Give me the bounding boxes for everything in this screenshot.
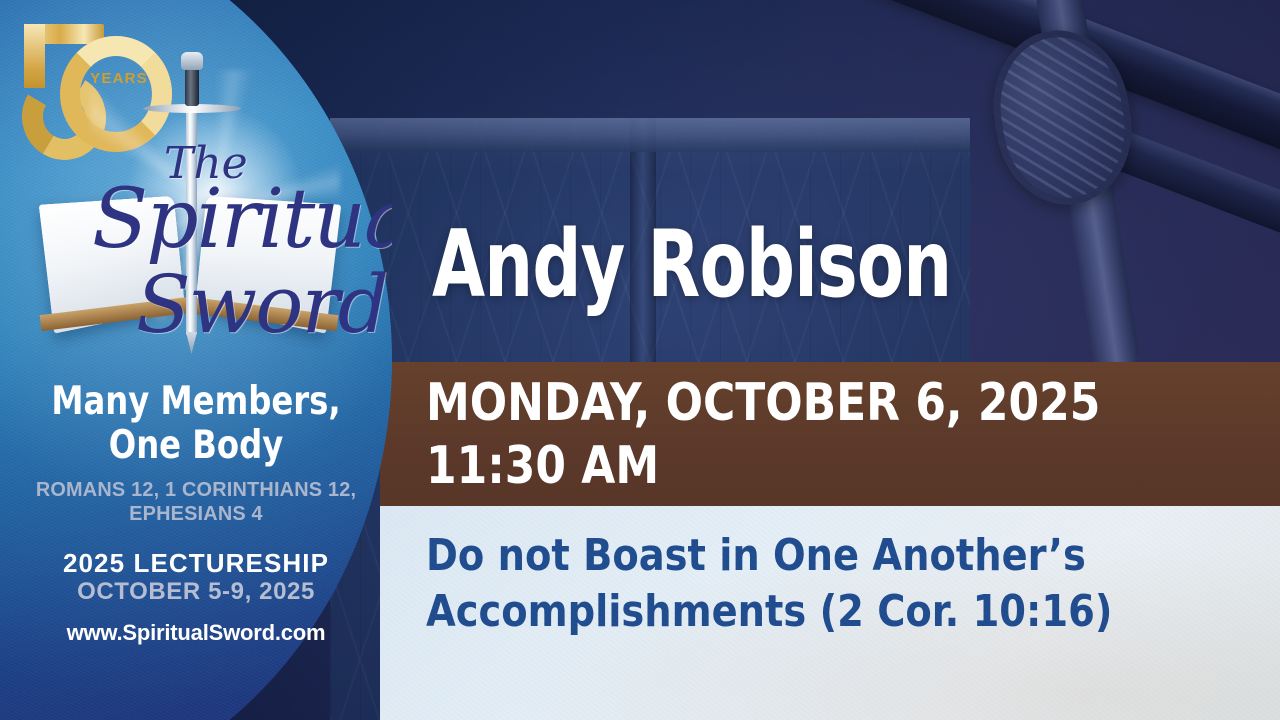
website-url[interactable]: www.SpiritualSword.com <box>0 620 392 646</box>
lesson-title-line2: Accomplishments (2 Cor. 10:16) <box>426 584 1216 640</box>
topic-panel: Do not Boast in One Another’s Accomplish… <box>380 506 1280 720</box>
lesson-title: Do not Boast in One Another’s Accomplish… <box>426 528 1216 641</box>
logo-word-sword: Sword <box>136 258 387 351</box>
theme-title-line2: One Body <box>16 424 377 468</box>
spiritual-sword-logo: The Spiritual Sword <box>30 60 360 360</box>
theme-title: Many Members, One Body <box>16 380 377 469</box>
scripture-references-line1: ROMANS 12, 1 CORINTHIANS 12, <box>12 478 381 502</box>
theme-title-line1: Many Members, <box>16 380 377 424</box>
lectureship-dates: OCTOBER 5-9, 2025 <box>0 578 392 606</box>
logo-sword-pommel-icon <box>181 52 203 70</box>
scripture-references: ROMANS 12, 1 CORINTHIANS 12, EPHESIANS 4 <box>12 478 381 526</box>
lesson-title-line1: Do not Boast in One Another’s <box>426 528 1216 584</box>
event-date: MONDAY, OCTOBER 6, 2025 <box>426 372 1229 435</box>
speaker-name: Andy Robison <box>432 218 951 311</box>
date-time-bar: MONDAY, OCTOBER 6, 2025 11:30 AM <box>380 362 1280 506</box>
scripture-references-line2: EPHESIANS 4 <box>12 502 381 526</box>
lectureship-label: 2025 LECTURESHIP <box>0 548 392 579</box>
logo-sword-grip-icon <box>185 64 199 106</box>
event-time: 11:30 AM <box>426 435 1229 498</box>
logo-word-spiritual: Spiritual <box>92 172 392 267</box>
lectureship-slide: Andy Robison MONDAY, OCTOBER 6, 2025 11:… <box>0 0 1280 720</box>
sidebar: YEARS The Spiritual Sword Many Members, … <box>0 0 392 720</box>
